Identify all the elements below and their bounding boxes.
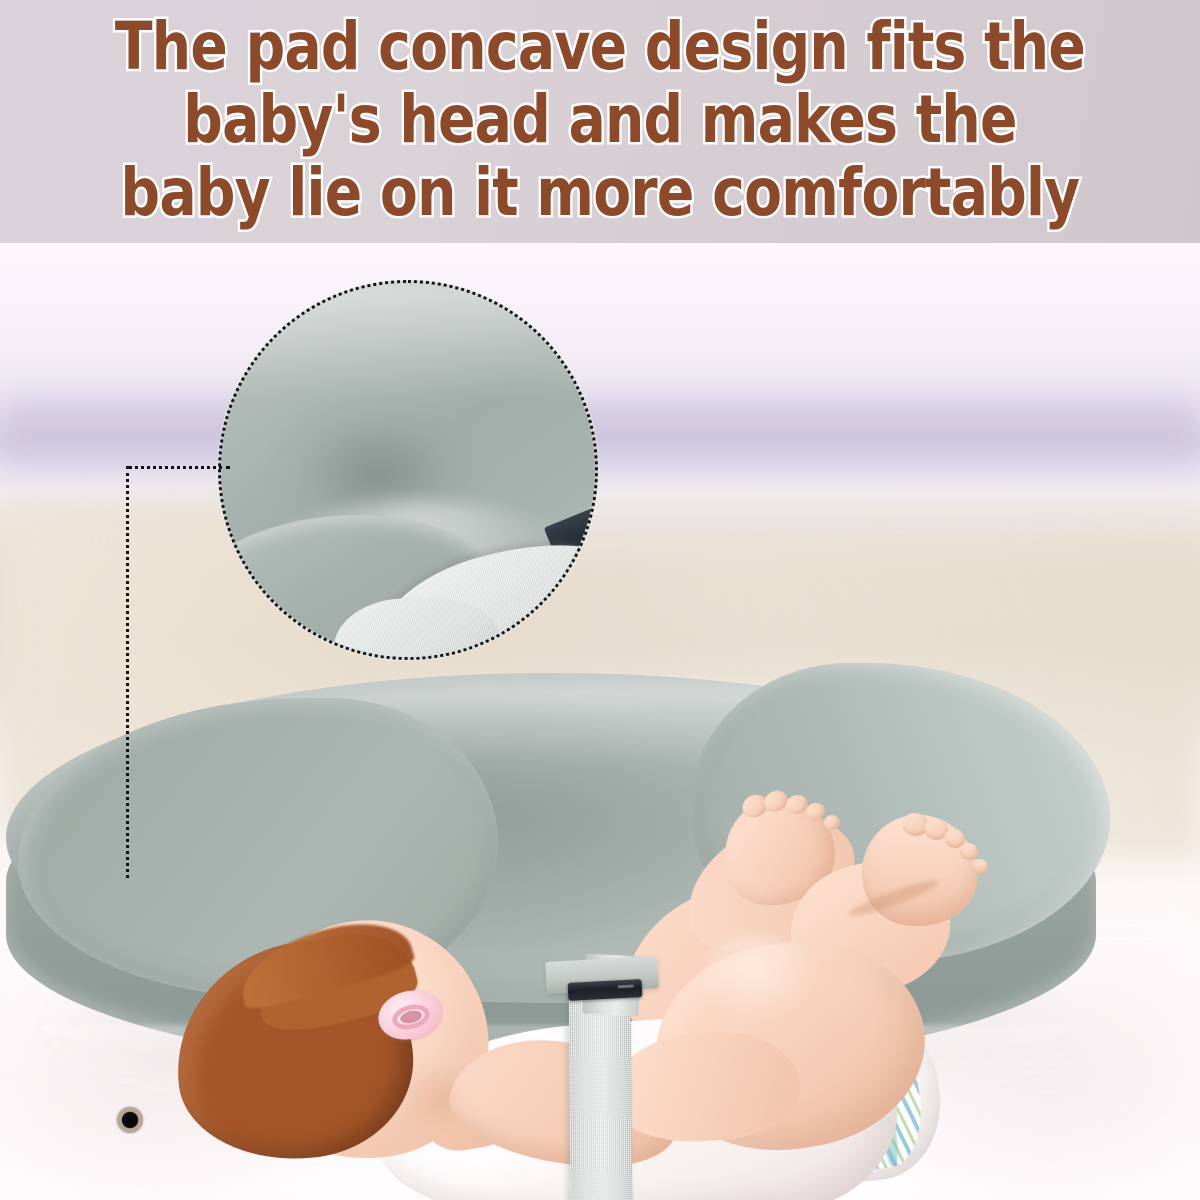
callout-anchor-dot: [117, 1107, 143, 1133]
product-photo-scene: [0, 243, 1200, 1200]
headline-text-block: The pad concave design fits the baby's h…: [0, 10, 1200, 229]
safety-strap-webbing: [569, 984, 634, 1200]
headline-line-1: The pad concave design fits the: [42, 10, 1158, 83]
headline-line-3: baby lie on it more comfortably: [42, 156, 1158, 229]
headline-banner: The pad concave design fits the baby's h…: [0, 0, 1200, 243]
baby-knee-highlight: [700, 933, 820, 1023]
product-feature-image: The pad concave design fits the baby's h…: [0, 0, 1200, 1200]
headline-line-2: baby's head and makes the: [42, 83, 1158, 156]
